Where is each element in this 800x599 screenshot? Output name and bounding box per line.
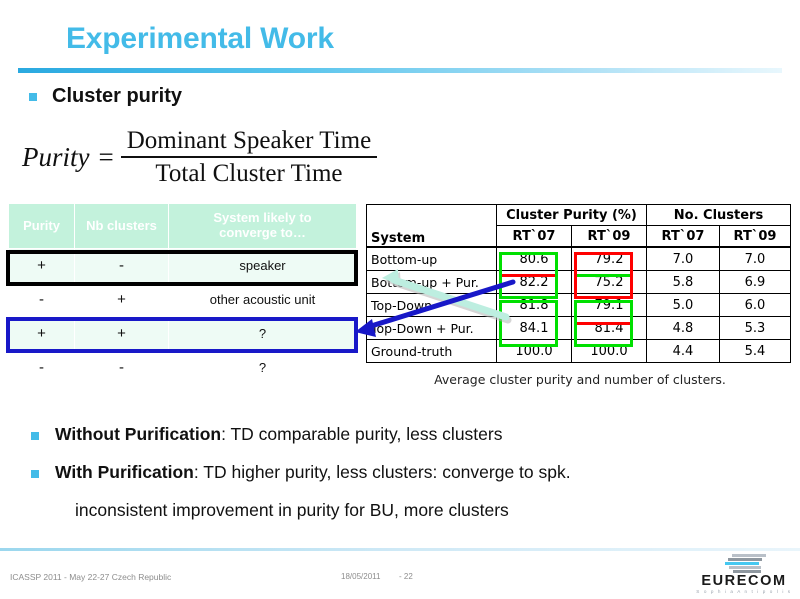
bullet-without-purification: Without Purification: TD comparable puri… — [55, 424, 502, 445]
col-header-purity-rt09: RT`09 — [572, 226, 647, 248]
cell-clusters-rt09: 6.9 — [720, 271, 791, 294]
cell-system-name: Bottom-up — [367, 247, 497, 271]
table-row: + + ? — [9, 317, 357, 351]
footer-conference: ICASSP 2011 - May 22-27 Czech Republic — [10, 572, 171, 582]
cell-purity-rt07: 100.0 — [497, 340, 572, 363]
cell-clusters-rt07: 4.4 — [647, 340, 720, 363]
cell-purity: - — [9, 351, 75, 385]
bullet-marker-with-purification — [31, 470, 39, 478]
formula-fraction-bar — [121, 156, 377, 158]
cell-converge: speaker — [169, 249, 357, 283]
cell-system-name: Ground-truth — [367, 340, 497, 363]
cell-purity: + — [9, 317, 75, 351]
col-header-converge-to: System likely to converge to… — [169, 204, 357, 249]
results-table: System Cluster Purity (%) No. Clusters R… — [366, 204, 791, 363]
col-header-system: System — [367, 205, 497, 248]
eurecom-logo-mark-icon — [724, 554, 766, 573]
formula-denominator: Total Cluster Time — [149, 159, 348, 189]
cell-system-name: Top-Down + Pur. — [367, 317, 497, 340]
cell-purity-rt09: 79.1 — [572, 294, 647, 317]
page-title: Experimental Work — [66, 22, 334, 56]
cell-clusters-rt09: 6.0 — [720, 294, 791, 317]
table-row: + - speaker — [9, 249, 357, 283]
bullet-marker-cluster-purity — [29, 93, 37, 101]
cell-purity-rt07: 82.2 — [497, 271, 572, 294]
cell-clusters: + — [75, 283, 169, 317]
col-header-converge-line1: System likely to — [213, 210, 311, 225]
bullet-without-purification-rest: : TD comparable purity, less clusters — [221, 424, 502, 444]
footer-page-number: - 22 — [399, 572, 413, 581]
cell-system-name: Bottom-up + Pur. — [367, 271, 497, 294]
col-header-converge-line2: converge to… — [219, 225, 306, 240]
col-group-header-cluster-purity: Cluster Purity (%) — [497, 205, 647, 226]
cell-purity-rt07: 81.8 — [497, 294, 572, 317]
cell-clusters: + — [75, 317, 169, 351]
eurecom-logo-subtitle: S o p h i a A n t i p o l i s — [696, 589, 792, 594]
footer-date: 18/05/2011 — [341, 572, 380, 581]
cell-clusters-rt07: 5.8 — [647, 271, 720, 294]
table-row: Bottom-up + Pur. 82.2 75.2 5.8 6.9 — [367, 271, 791, 294]
cell-converge: ? — [169, 317, 357, 351]
cell-purity-rt09: 100.0 — [572, 340, 647, 363]
eurecom-logo: EURECOM S o p h i a A n t i p o l i s — [696, 554, 792, 594]
slide-canvas: Experimental Work Cluster purity Purity … — [0, 0, 800, 599]
cell-converge: other acoustic unit — [169, 283, 357, 317]
table-row: - - ? — [9, 351, 357, 385]
table-row: - + other acoustic unit — [9, 283, 357, 317]
col-header-nb-clusters: Nb clusters — [75, 204, 169, 249]
formula-fraction: Dominant Speaker Time Total Cluster Time — [121, 126, 377, 189]
formula-lhs: Purity — [22, 144, 90, 171]
cell-clusters: - — [75, 351, 169, 385]
table-row: Top-Down 81.8 79.1 5.0 6.0 — [367, 294, 791, 317]
cell-purity-rt09: 79.2 — [572, 247, 647, 271]
cell-purity-rt09: 75.2 — [572, 271, 647, 294]
cell-clusters-rt07: 5.0 — [647, 294, 720, 317]
cell-purity: + — [9, 249, 75, 283]
note-inconsistent-improvement: inconsistent improvement in purity for B… — [75, 500, 509, 521]
cell-clusters-rt07: 4.8 — [647, 317, 720, 340]
table-row: Top-Down + Pur. 84.1 81.4 4.8 5.3 — [367, 317, 791, 340]
title-divider — [18, 68, 782, 73]
col-header-purity-rt07: RT`07 — [497, 226, 572, 248]
col-group-header-no-clusters: No. Clusters — [647, 205, 791, 226]
table-caption: Average cluster purity and number of clu… — [366, 372, 794, 387]
bullet-with-purification-strong: With Purification — [55, 462, 194, 482]
cell-clusters: - — [75, 249, 169, 283]
cell-purity: - — [9, 283, 75, 317]
cell-clusters-rt09: 5.3 — [720, 317, 791, 340]
table-header-row: Purity Nb clusters System likely to conv… — [9, 204, 357, 249]
table-row: Ground-truth 100.0 100.0 4.4 5.4 — [367, 340, 791, 363]
bullet-without-purification-strong: Without Purification — [55, 424, 221, 444]
table-row: Bottom-up 80.6 79.2 7.0 7.0 — [367, 247, 791, 271]
bullet-marker-without-purification — [31, 432, 39, 440]
convergence-table: Purity Nb clusters System likely to conv… — [8, 203, 357, 385]
cell-system-name: Top-Down — [367, 294, 497, 317]
cell-clusters-rt07: 7.0 — [647, 247, 720, 271]
bullet-with-purification-rest: : TD higher purity, less clusters: conve… — [194, 462, 571, 482]
formula-numerator: Dominant Speaker Time — [121, 126, 377, 156]
cell-clusters-rt09: 7.0 — [720, 247, 791, 271]
cell-purity-rt09: 81.4 — [572, 317, 647, 340]
col-header-clusters-rt07: RT`07 — [647, 226, 720, 248]
cell-purity-rt07: 80.6 — [497, 247, 572, 271]
cell-converge: ? — [169, 351, 357, 385]
cell-purity-rt07: 84.1 — [497, 317, 572, 340]
table-group-header-row: System Cluster Purity (%) No. Clusters — [367, 205, 791, 226]
bullet-with-purification: With Purification: TD higher purity, les… — [55, 462, 571, 483]
eurecom-logo-text: EURECOM — [696, 573, 792, 589]
col-header-purity: Purity — [9, 204, 75, 249]
formula-equals: = — [99, 142, 114, 173]
col-header-clusters-rt09: RT`09 — [720, 226, 791, 248]
bullet-cluster-purity: Cluster purity — [52, 85, 182, 108]
results-table-wrapper: System Cluster Purity (%) No. Clusters R… — [366, 204, 791, 363]
footer-divider — [0, 548, 800, 551]
purity-formula: Purity = Dominant Speaker Time Total Clu… — [22, 118, 377, 196]
cell-clusters-rt09: 5.4 — [720, 340, 791, 363]
